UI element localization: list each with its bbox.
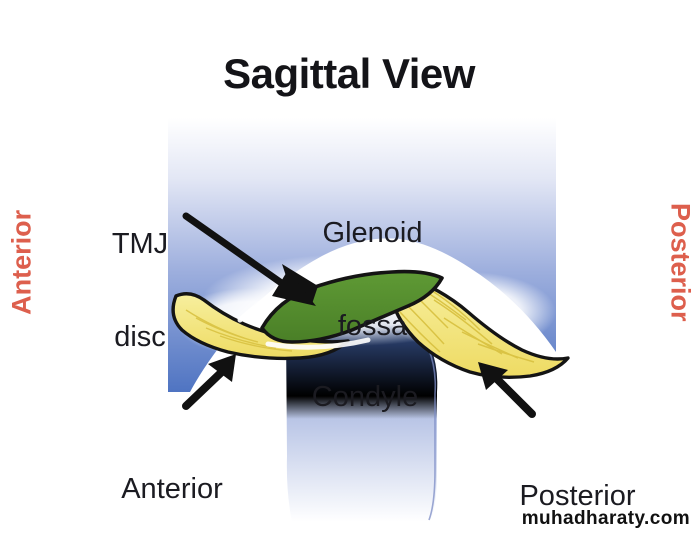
label-anterior-attachments: Anterior Attachments bbox=[52, 413, 292, 539]
label-glenoid-fossa-line2: fossa bbox=[285, 311, 460, 342]
label-tmj-disc-line1: TMJ bbox=[70, 229, 210, 260]
label-tmj-disc: TMJ disc bbox=[70, 168, 210, 414]
orientation-label-posterior: Posterior bbox=[666, 182, 695, 342]
label-glenoid-fossa-line1: Glenoid bbox=[285, 218, 460, 249]
label-tmj-disc-line2: disc bbox=[70, 322, 210, 353]
orientation-label-anterior: Anterior bbox=[8, 192, 37, 332]
sagittal-view-figure: Sagittal View Anterior Posterior TMJ dis… bbox=[0, 0, 698, 539]
label-glenoid-fossa: Glenoid fossa bbox=[285, 157, 460, 403]
page-title: Sagittal View bbox=[0, 52, 698, 97]
label-anterior-attachments-line1: Anterior bbox=[52, 474, 292, 505]
label-condyle: Condyle bbox=[290, 382, 440, 413]
watermark: muhadharaty.com bbox=[458, 509, 690, 529]
